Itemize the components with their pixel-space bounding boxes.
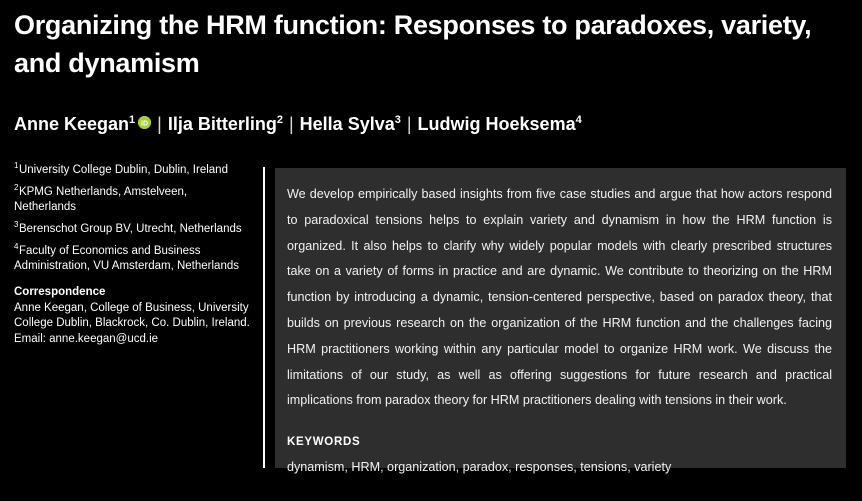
affiliation-item: 3Berenschot Group BV, Utrecht, Netherlan… <box>14 222 252 237</box>
correspondence-line-1: Anne Keegan, College of Business, Univer… <box>14 302 249 314</box>
affiliation-marker: 1 <box>14 161 18 170</box>
paper-first-page: Organizing the HRM function: Responses t… <box>0 0 862 501</box>
correspondence-heading: Correspondence <box>14 285 252 301</box>
correspondence-line-2: College Dublin, Blackrock, Co. Dublin, I… <box>14 317 250 329</box>
affiliation-item: 2KPMG Netherlands, Amstelveen, Netherlan… <box>14 185 252 215</box>
author-separator: | <box>401 112 418 136</box>
author-name: Hella Sylva <box>300 114 395 134</box>
author-name: Ilja Bitterling <box>168 114 277 134</box>
author-name: Anne Keegan <box>14 114 129 134</box>
author-separator: | <box>151 112 168 136</box>
affiliation-item: 1University College Dublin, Dublin, Irel… <box>14 163 252 178</box>
affiliations-column: 1University College Dublin, Dublin, Irel… <box>14 163 252 347</box>
affiliation-marker: 4 <box>14 242 18 251</box>
abstract-panel: We develop empirically based insights fr… <box>275 168 846 468</box>
affiliation-item: 4Faculty of Economics and Business Admin… <box>14 244 252 274</box>
page-title: Organizing the HRM function: Responses t… <box>14 6 814 82</box>
author-entry: Anne Keegan1iD <box>14 114 151 134</box>
keywords-list: dynamism, HRM, organization, paradox, re… <box>287 455 832 480</box>
affiliation-marker: 3 <box>14 220 18 229</box>
orcid-id-icon[interactable]: iD <box>138 116 151 129</box>
abstract-text: We develop empirically based insights fr… <box>287 182 832 414</box>
author-list: Anne Keegan1iD|Ilja Bitterling2|Hella Sy… <box>14 112 844 136</box>
author-name: Ludwig Hoeksema <box>418 114 576 134</box>
correspondence-block: Correspondence Anne Keegan, College of B… <box>14 285 252 347</box>
author-affiliation-marker: 4 <box>576 114 582 126</box>
author-entry: Ilja Bitterling2 <box>168 114 283 134</box>
vertical-divider-rule <box>263 167 265 468</box>
affiliation-marker: 2 <box>14 183 18 192</box>
affiliation-text: KPMG Netherlands, Amstelveen, Netherland… <box>14 186 187 213</box>
svg-text:iD: iD <box>141 120 148 127</box>
affiliation-text: University College Dublin, Dublin, Irela… <box>19 164 228 176</box>
author-affiliation-marker: 1 <box>129 114 135 126</box>
affiliation-text: Berenschot Group BV, Utrecht, Netherland… <box>19 223 242 235</box>
keywords-heading: KEYWORDS <box>287 436 832 448</box>
affiliation-text: Faculty of Economics and Business Admini… <box>14 245 239 272</box>
author-separator: | <box>283 112 300 136</box>
author-entry: Hella Sylva3 <box>300 114 401 134</box>
author-entry: Ludwig Hoeksema4 <box>418 114 582 134</box>
correspondence-email[interactable]: Email: anne.keegan@ucd.ie <box>14 333 158 345</box>
